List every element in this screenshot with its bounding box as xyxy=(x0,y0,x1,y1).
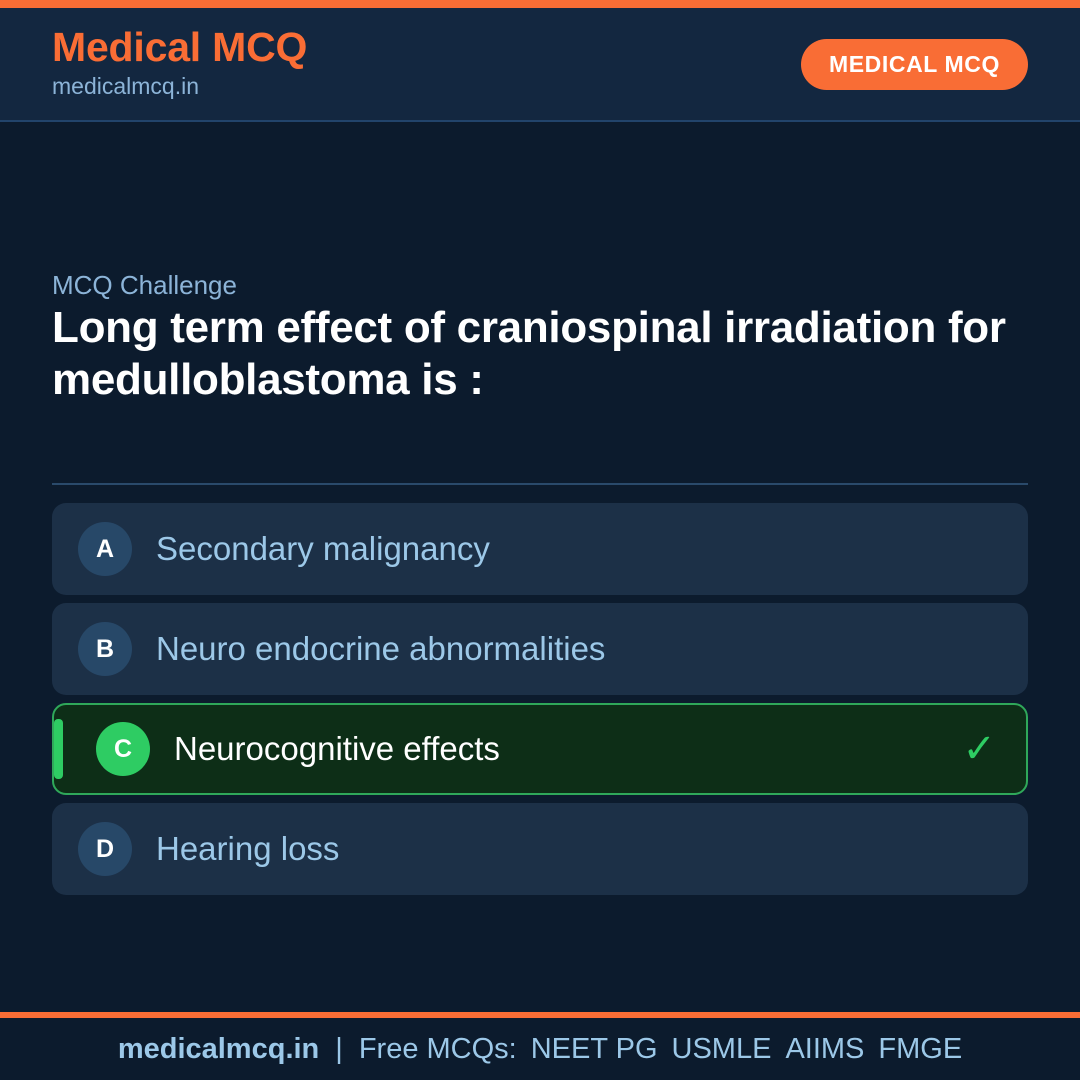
option-text-b: Neuro endocrine abnormalities xyxy=(156,631,998,667)
option-text-c: Neurocognitive effects xyxy=(174,731,962,767)
footer-exam-usmle: USMLE xyxy=(672,1033,772,1066)
question-text: Long term effect of craniospinal irradia… xyxy=(52,302,1037,407)
footer-separator: | xyxy=(335,1033,343,1066)
footer-row: medicalmcq.in | Free MCQs: NEET PG USMLE… xyxy=(118,1033,962,1066)
option-letter-badge-b: B xyxy=(78,622,132,676)
question-divider xyxy=(52,483,1028,485)
page-header: Medical MCQ medicalmcq.in MEDICAL MCQ xyxy=(0,8,1080,122)
option-letter-badge-a: A xyxy=(78,522,132,576)
option-row-a[interactable]: A Secondary malignancy xyxy=(52,503,1028,595)
option-letter-badge-c: C xyxy=(96,722,150,776)
brand: Medical MCQ medicalmcq.in xyxy=(52,26,307,102)
option-text-d: Hearing loss xyxy=(156,831,998,867)
page-footer: medicalmcq.in | Free MCQs: NEET PG USMLE… xyxy=(0,1012,1080,1080)
footer-free-label: Free MCQs: xyxy=(359,1033,517,1066)
main-content: MCQ Challenge Long term effect of cranio… xyxy=(0,122,1080,1012)
correct-accent-bar xyxy=(54,719,63,779)
options-list: A Secondary malignancy B Neuro endocrine… xyxy=(52,503,1028,895)
footer-exam-fmge: FMGE xyxy=(878,1033,962,1066)
brand-subtitle: medicalmcq.in xyxy=(52,71,307,102)
brand-title: Medical MCQ xyxy=(52,26,307,69)
option-letter-badge-d: D xyxy=(78,822,132,876)
header-badge: MEDICAL MCQ xyxy=(801,39,1028,90)
footer-exam-neetpg: NEET PG xyxy=(531,1033,658,1066)
option-row-c[interactable]: C Neurocognitive effects ✓ xyxy=(52,703,1028,795)
check-icon-c: ✓ xyxy=(962,729,996,769)
option-row-b[interactable]: B Neuro endocrine abnormalities xyxy=(52,603,1028,695)
footer-site[interactable]: medicalmcq.in xyxy=(118,1033,319,1066)
top-accent-bar xyxy=(0,0,1080,8)
question-label: MCQ Challenge xyxy=(52,270,237,301)
option-text-a: Secondary malignancy xyxy=(156,531,998,567)
option-row-d[interactable]: D Hearing loss xyxy=(52,803,1028,895)
footer-exam-aiims: AIIMS xyxy=(785,1033,864,1066)
mcq-card: Medical MCQ medicalmcq.in MEDICAL MCQ MC… xyxy=(0,0,1080,1080)
